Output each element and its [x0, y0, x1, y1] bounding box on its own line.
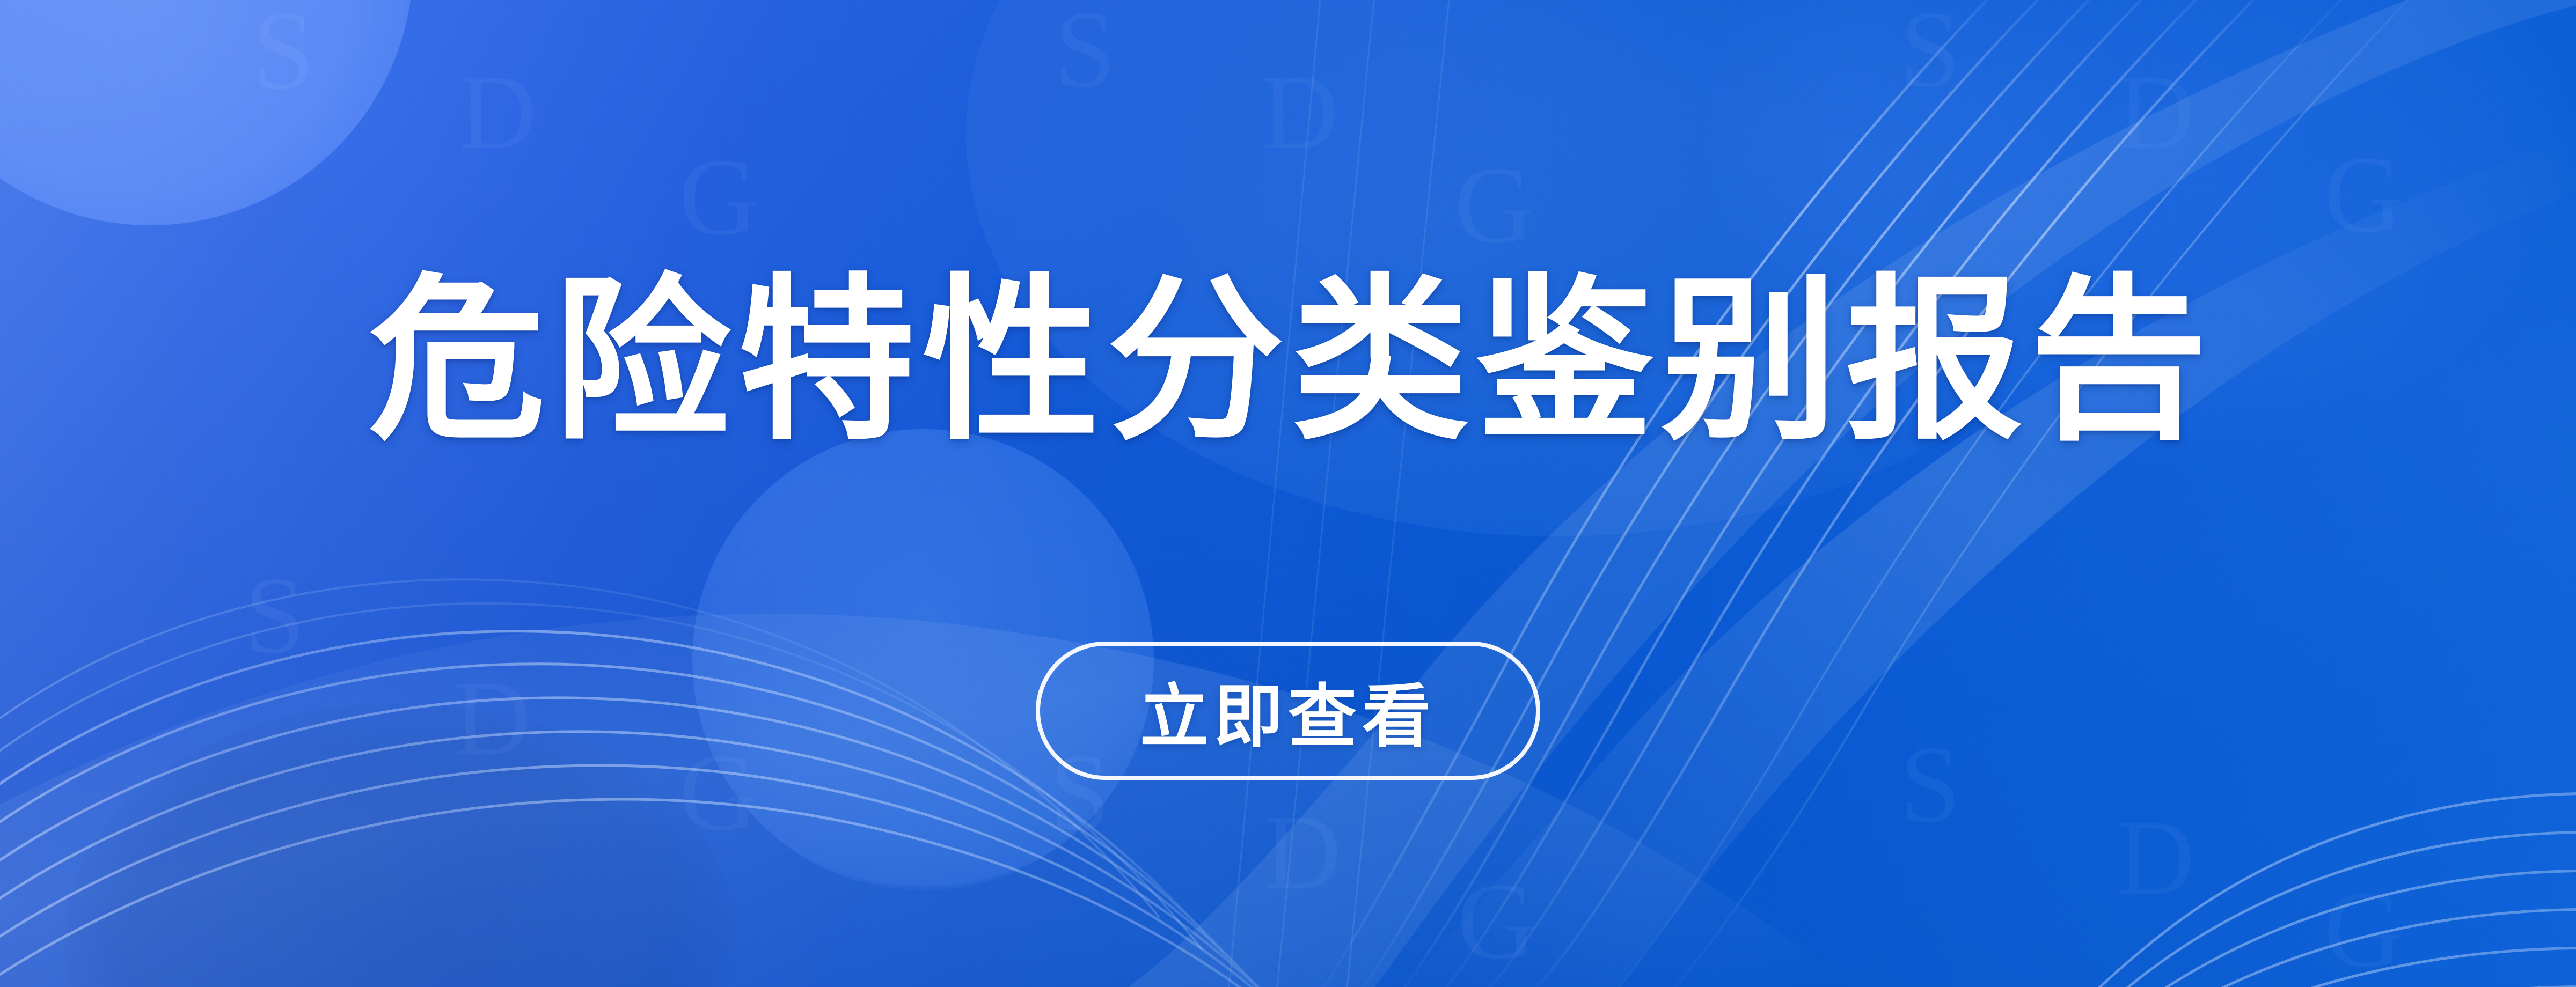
banner-content: 危险特性分类鉴别报告 立即查看 [0, 0, 2576, 987]
cta-container: 立即查看 [0, 642, 2576, 780]
promo-banner: S D G S D G S D G S D G S D G S D G 危险特性… [0, 0, 2576, 987]
view-now-button[interactable]: 立即查看 [1036, 642, 1540, 780]
banner-title: 危险特性分类鉴别报告 [361, 268, 2215, 454]
